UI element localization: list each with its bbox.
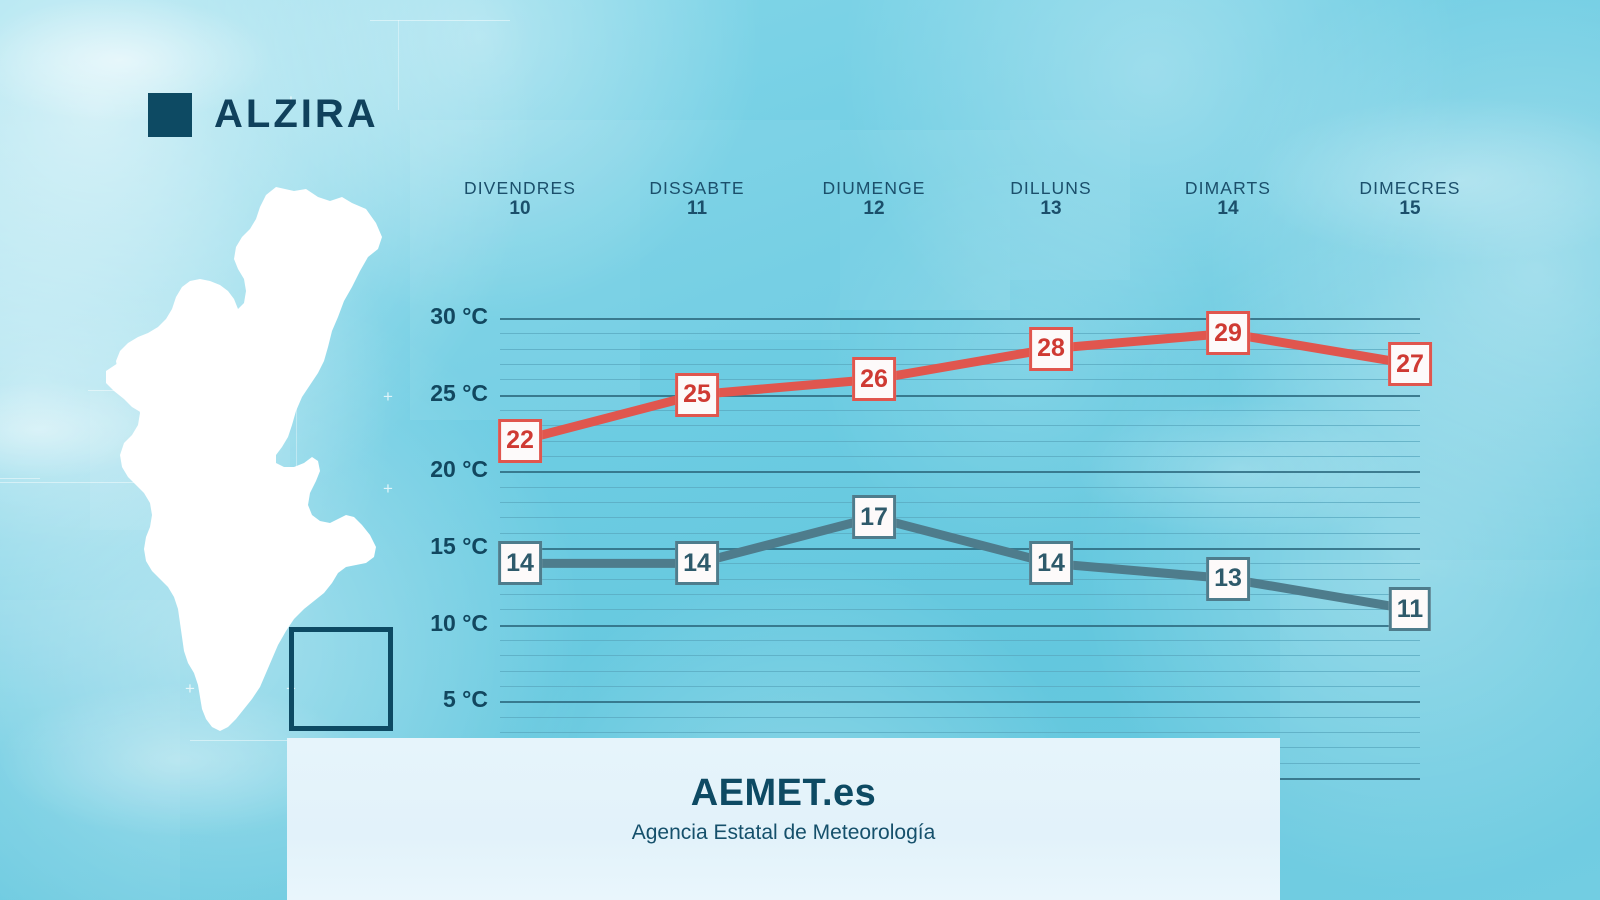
chart-plot-area: 30 °C25 °C20 °C15 °C10 °C5 °C0 °C 222526… [420,240,1450,710]
region-map [80,175,420,745]
max-temperature-line [520,333,1410,440]
max-temp-value-12: 26 [852,357,896,401]
min-temp-value-15: 11 [1389,587,1431,631]
min-temp-value-11: 14 [675,541,719,585]
location-marker-icon [148,93,192,137]
page-title: ALZIRA [214,92,379,137]
decor-hairline-3 [0,478,40,479]
temperature-chart: DIVENDRES10DISSABTE11DIUMENGE12DILLUNS13… [420,160,1450,740]
min-temp-value-12: 17 [852,495,896,539]
chart-series-lines [420,240,1450,710]
min-temp-value-14: 13 [1206,557,1250,601]
infographic-canvas: + + + + + ALZIRA DIVENDRES10DISSABTE11DI… [0,0,1600,900]
location-header: ALZIRA [148,92,379,137]
map-highlight-box [289,627,393,731]
decor-hairline-5 [370,20,510,21]
day-name-label: DIMECRES [1300,178,1520,198]
max-temp-value-11: 25 [675,373,719,417]
max-temp-value-10: 22 [498,419,542,463]
decor-vhair-1 [398,20,399,110]
gridline-minor [500,717,1420,718]
day-header-15: DIMECRES15 [1300,178,1520,220]
footer-banner: AEMET.es Agencia Estatal de Meteorología [287,738,1280,900]
min-temp-value-13: 14 [1029,541,1073,585]
min-temp-value-10: 14 [498,541,542,585]
max-temp-value-15: 27 [1388,342,1432,386]
min-temperature-line [520,517,1410,609]
max-temp-value-14: 29 [1206,311,1250,355]
gridline-minor [500,732,1420,733]
aemet-subtitle: Agencia Estatal de Meteorología [287,821,1280,845]
aemet-brand: AEMET.es [287,772,1280,815]
day-number-label: 15 [1300,198,1520,220]
max-temp-value-13: 28 [1029,327,1073,371]
